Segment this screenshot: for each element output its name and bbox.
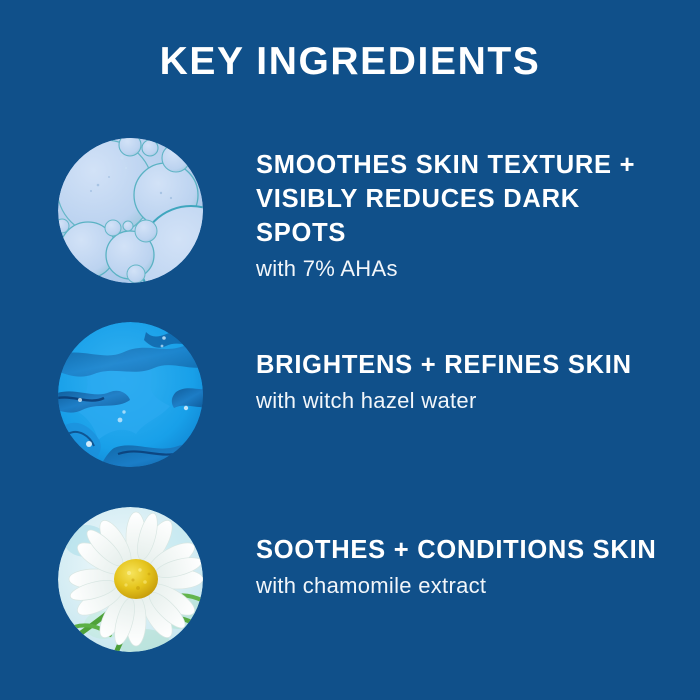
ingredient-row-chamomile: SOOTHES + CONDITIONS SKIN with chamomile…: [0, 505, 700, 655]
ingredient-headline: BRIGHTENS + REFINES SKIN: [256, 348, 676, 382]
ingredient-headline: SMOOTHES SKIN TEXTURE + VISIBLY REDUCES …: [256, 148, 676, 250]
ingredient-row-ahas: SMOOTHES SKIN TEXTURE + VISIBLY REDUCES …: [0, 136, 700, 286]
page-title: KEY INGREDIENTS: [0, 41, 700, 84]
ingredient-copy-chamomile: SOOTHES + CONDITIONS SKIN with chamomile…: [256, 533, 676, 601]
blue-water-splash-image: [58, 322, 203, 467]
ingredient-copy-ahas: SMOOTHES SKIN TEXTURE + VISIBLY REDUCES …: [256, 148, 676, 284]
ingredient-subline: with 7% AHAs: [256, 254, 676, 284]
ingredient-headline: SOOTHES + CONDITIONS SKIN: [256, 533, 676, 567]
ingredient-subline: with witch hazel water: [256, 386, 676, 416]
ingredient-row-witch-hazel: BRIGHTENS + REFINES SKIN with witch haze…: [0, 320, 700, 470]
ingredient-copy-witch-hazel: BRIGHTENS + REFINES SKIN with witch haze…: [256, 348, 676, 416]
key-ingredients-panel: KEY INGREDIENTS: [0, 0, 700, 700]
chamomile-flower-image: [58, 507, 203, 652]
ingredient-subline: with chamomile extract: [256, 571, 676, 601]
bubbles-macro-image: [58, 138, 203, 283]
